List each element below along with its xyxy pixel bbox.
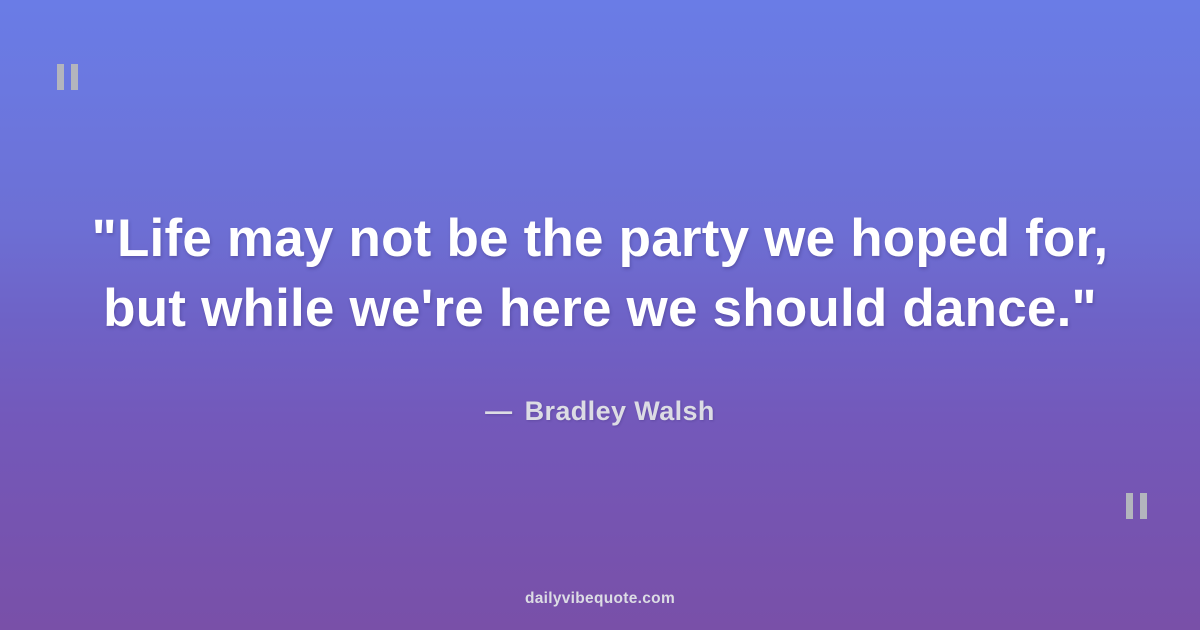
quote-mark-bar bbox=[1126, 493, 1133, 519]
author-dash: — bbox=[485, 396, 512, 426]
quote-line-1: "Life may not be the party we hoped for, bbox=[45, 204, 1155, 274]
quote-mark-icon bbox=[1126, 493, 1147, 519]
quote-content: "Life may not be the party we hoped for,… bbox=[0, 0, 1200, 630]
site-footer: dailyvibequote.com bbox=[0, 590, 1200, 608]
quote-card: "Life may not be the party we hoped for,… bbox=[0, 0, 1200, 630]
author-name: Bradley Walsh bbox=[525, 396, 715, 426]
quote-text: "Life may not be the party we hoped for,… bbox=[45, 204, 1155, 344]
quote-mark-bar bbox=[1140, 493, 1147, 519]
author-attribution: —Bradley Walsh bbox=[485, 396, 715, 427]
quote-line-2: but while we're here we should dance." bbox=[45, 274, 1155, 344]
